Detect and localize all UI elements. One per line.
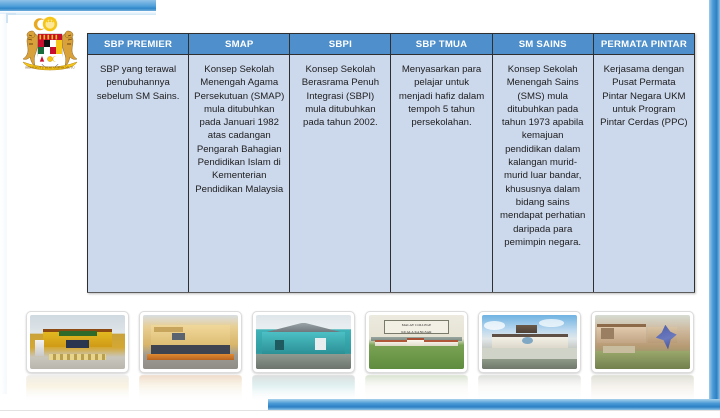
column-header-sbpi: SBPI (290, 34, 391, 55)
photo-card-3 (252, 311, 355, 407)
cell-sm-sains: Konsep Sekolah Menengah Sains (SMS) mula… (492, 55, 593, 293)
comparison-table-container: SBP PREMIER SMAP SBPI SBP TMUA SM SAINS … (87, 33, 695, 293)
school-types-table: SBP PREMIER SMAP SBPI SBP TMUA SM SAINS … (87, 33, 695, 293)
photo-caption-plate: MALAY COLLEGE KUALA KANGSAR (384, 320, 449, 334)
photo-frame-1 (26, 311, 129, 373)
right-blue-bar (709, 0, 720, 404)
photo-frame-2 (139, 311, 242, 373)
photo-card-5 (478, 311, 581, 407)
jata-negara-emblem-icon: BERSEKUTU BERTAMBAH MUTU (13, 14, 87, 78)
photo-reflection-3 (252, 375, 355, 401)
column-header-sbp-premier: SBP PREMIER (88, 34, 189, 55)
left-white-edge (0, 14, 7, 394)
school-photo-campus-with-monument-image (595, 315, 690, 369)
photo-reflection-6 (591, 375, 694, 401)
school-photo-modern-campus-image (482, 315, 577, 369)
photo-frame-6 (591, 311, 694, 373)
table-body-row: SBP yang terawal penubuhannya sebelum SM… (88, 55, 695, 293)
column-header-permata-pintar: PERMATA PINTAR (593, 34, 694, 55)
cell-sbp-tmua: Menyasarkan para pelajar untuk menjadi h… (391, 55, 492, 293)
school-photo-malay-college-image: MALAY COLLEGE KUALA KANGSAR (369, 315, 464, 369)
column-header-sm-sains: SM SAINS (492, 34, 593, 55)
cell-smap: Konsep Sekolah Menengah Agama Persekutua… (189, 55, 290, 293)
school-photo-cream-two-storey-image (143, 315, 238, 369)
column-header-sbp-tmua: SBP TMUA (391, 34, 492, 55)
photo-reflection-5 (478, 375, 581, 401)
slide-canvas: BERSEKUTU BERTAMBAH MUTU SBP PREMIER SMA… (0, 0, 720, 418)
right-bar-notch (695, 0, 709, 14)
photo-card-1 (26, 311, 129, 407)
cell-sbpi: Konsep Sekolah Berasrama Penuh Integrasi… (290, 55, 391, 293)
svg-text:BERSEKUTU BERTAMBAH MUTU: BERSEKUTU BERTAMBAH MUTU (25, 66, 75, 70)
cell-permata-pintar: Kerjasama dengan Pusat Permata Pintar Ne… (593, 55, 694, 293)
table-header-row: SBP PREMIER SMAP SBPI SBP TMUA SM SAINS … (88, 34, 695, 55)
school-photo-gallery: MALAY COLLEGE KUALA KANGSAR (26, 311, 694, 407)
photo-reflection-2 (139, 375, 242, 401)
school-photo-yellow-entrance-image (30, 315, 125, 369)
bottom-white-edge (0, 410, 720, 418)
photo-frame-5 (478, 311, 581, 373)
caption-line-2: KUALA KANGSAR (385, 329, 448, 335)
photo-frame-4: MALAY COLLEGE KUALA KANGSAR (365, 311, 468, 373)
photo-card-6 (591, 311, 694, 407)
photo-card-2 (139, 311, 242, 407)
cell-sbp-premier: SBP yang terawal penubuhannya sebelum SM… (88, 55, 189, 293)
column-header-smap: SMAP (189, 34, 290, 55)
photo-card-4: MALAY COLLEGE KUALA KANGSAR (365, 311, 468, 407)
school-photo-turquoise-building-image (256, 315, 351, 369)
photo-frame-3 (252, 311, 355, 373)
photo-reflection-1 (26, 375, 129, 401)
photo-reflection-4 (365, 375, 468, 401)
